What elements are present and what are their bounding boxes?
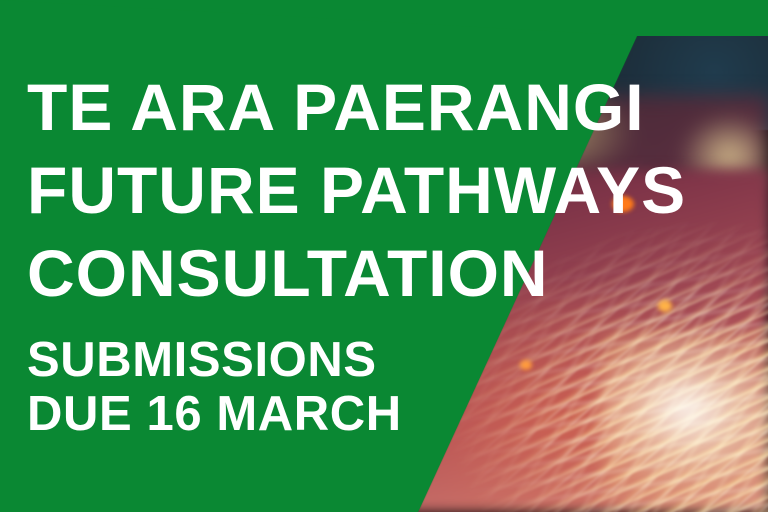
subheading-line-1: SUBMISSIONS — [27, 336, 377, 385]
headline-line-3: CONSULTATION — [27, 240, 549, 306]
subheading-line-2: DUE 16 MARCH — [27, 390, 402, 439]
consultation-banner: TE ARA PAERANGI FUTURE PATHWAYS CONSULTA… — [0, 0, 768, 512]
headline-line-2: FUTURE PATHWAYS — [27, 157, 686, 223]
headline-line-1: TE ARA PAERANGI — [27, 74, 645, 140]
banner-copy: TE ARA PAERANGI FUTURE PATHWAYS CONSULTA… — [27, 0, 757, 512]
